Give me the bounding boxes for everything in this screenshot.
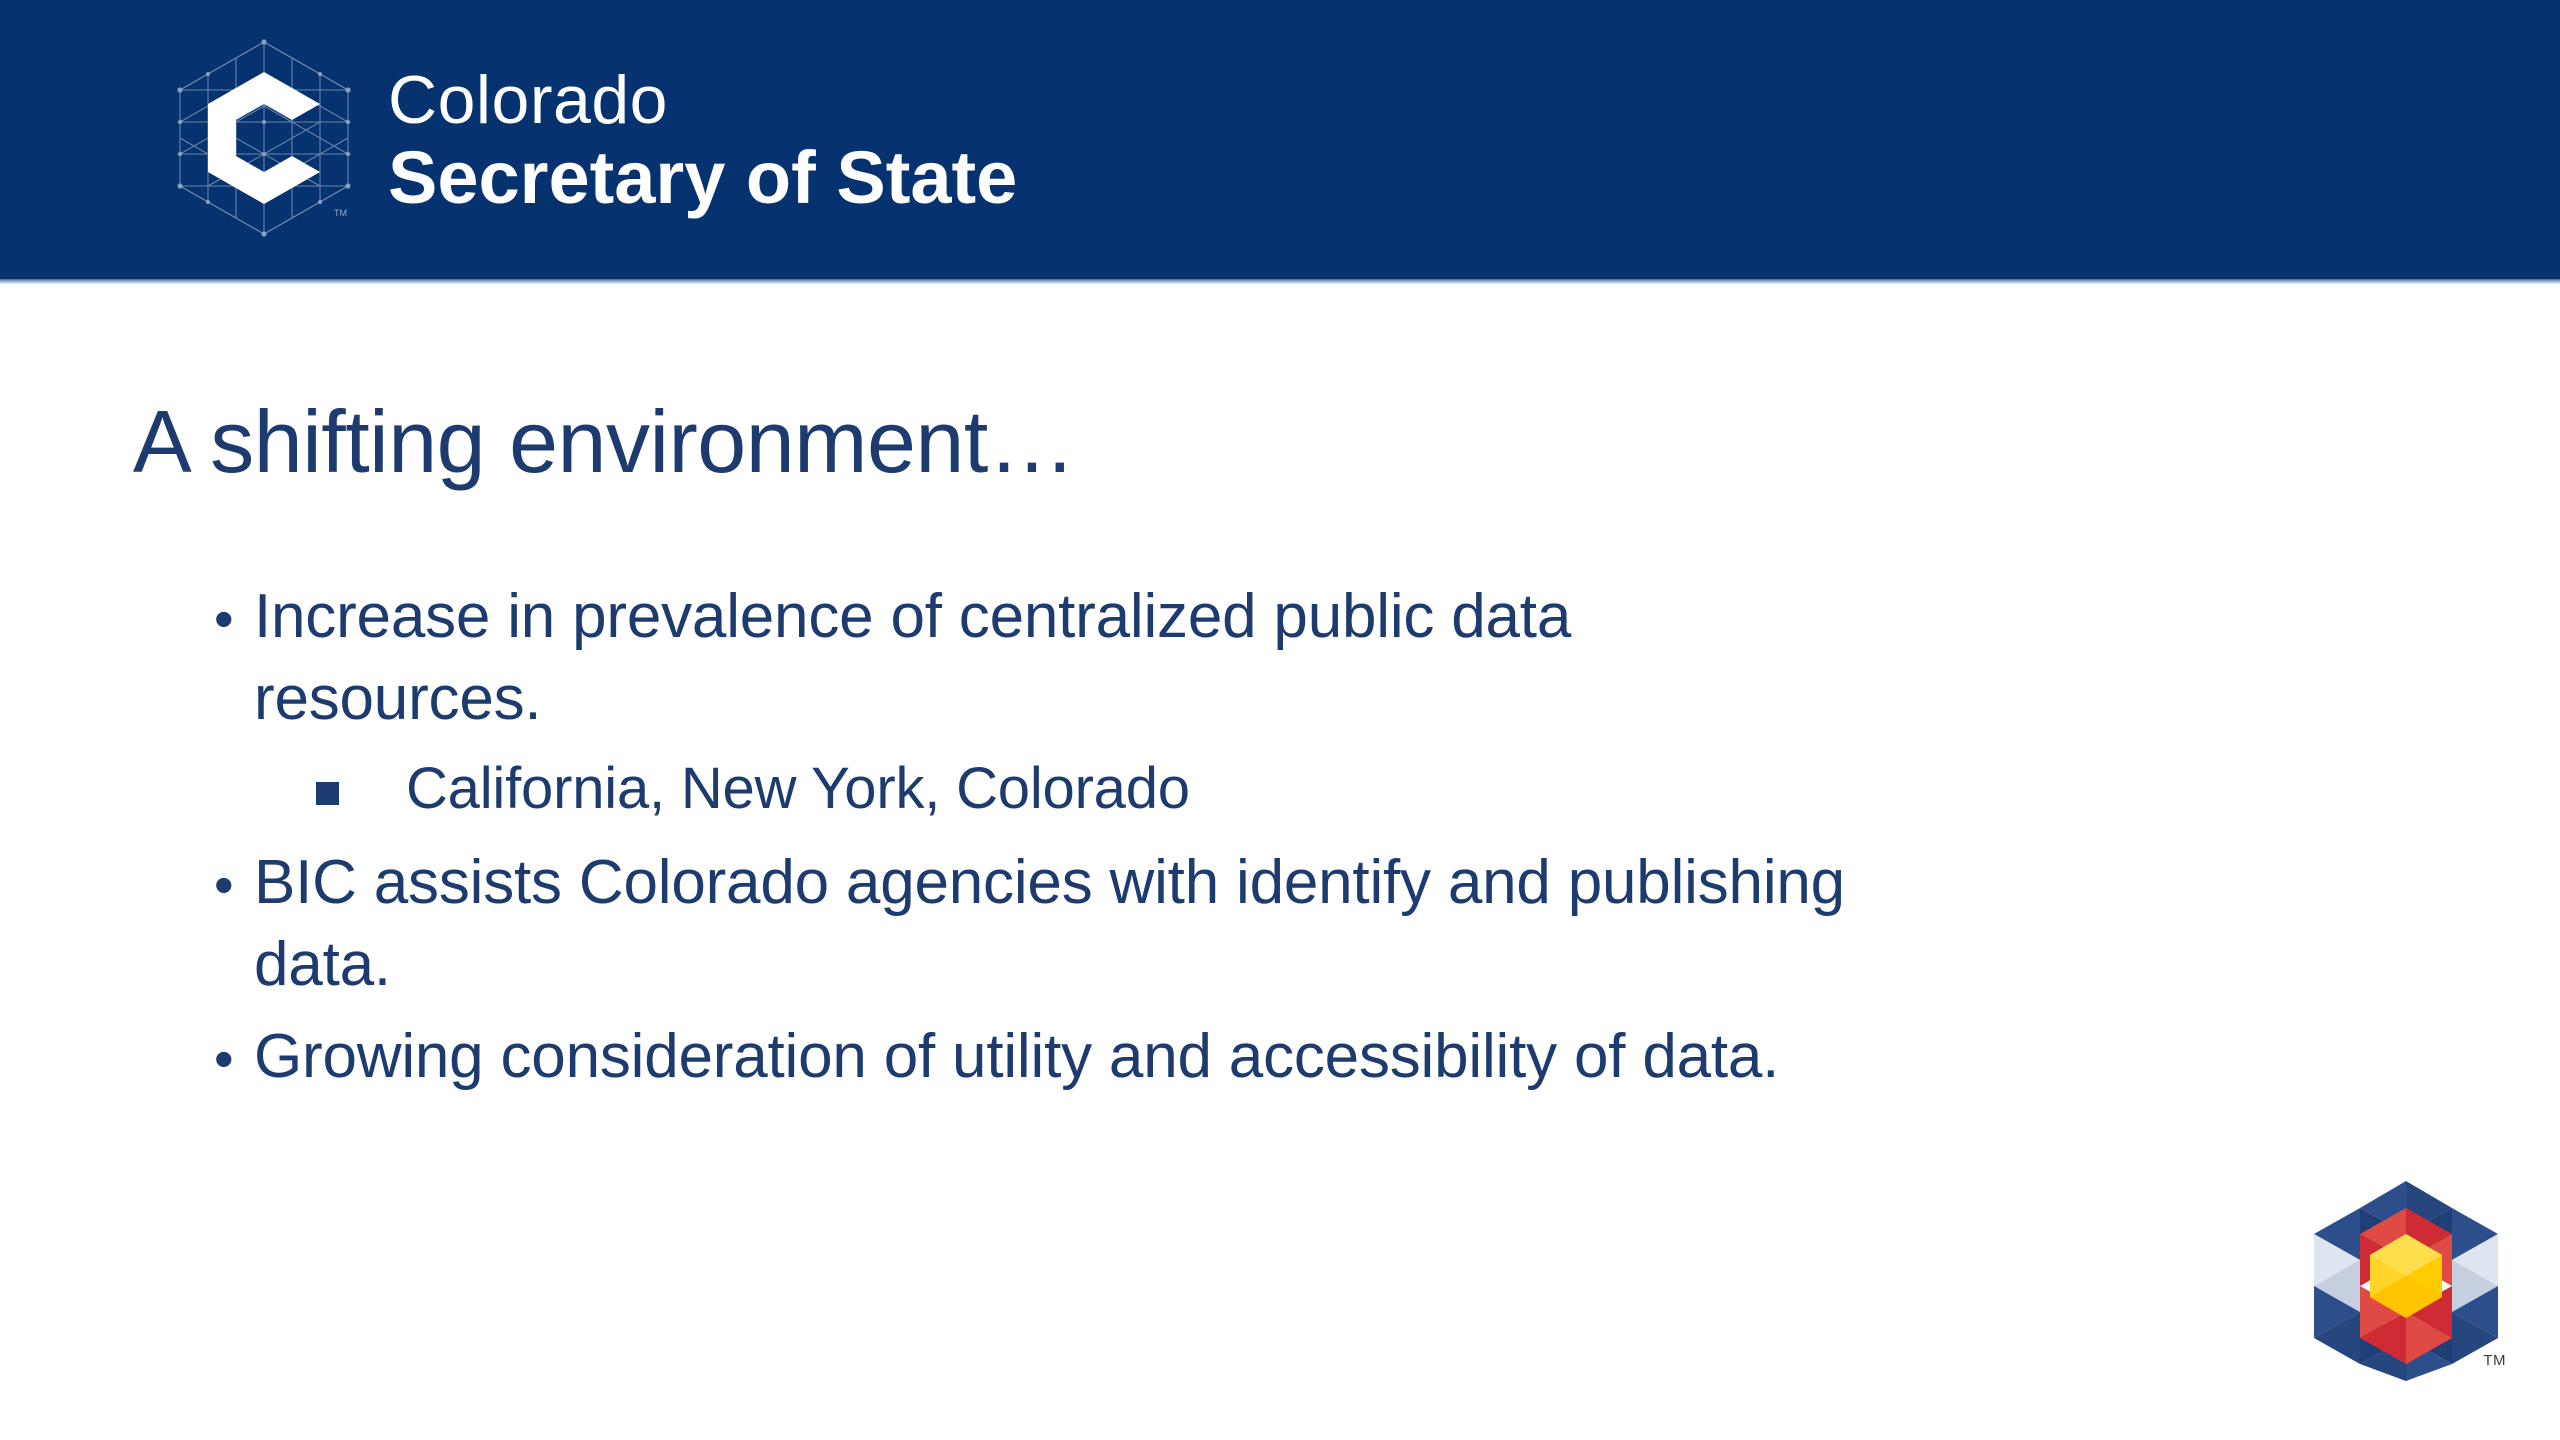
trademark-mark: TM	[2483, 1352, 2506, 1369]
bullet-disc-icon: •	[200, 576, 254, 662]
list-item-text: Growing consideration of utility and acc…	[254, 1016, 1779, 1098]
brand-line-secretary-of-state: Secretary of State	[388, 137, 1017, 219]
colorado-state-hex-logo-icon: TM	[2300, 1175, 2512, 1407]
bullet-list: • Increase in prevalence of centralized …	[200, 576, 2160, 1112]
list-item: • Increase in prevalence of centralized …	[200, 576, 2160, 740]
list-item-text: California, New York, Colorado	[406, 750, 1190, 828]
list-item: • BIC assists Colorado agencies with ide…	[200, 842, 2160, 1006]
bullet-square-icon	[316, 750, 406, 805]
list-item-text: Increase in prevalence of centralized pu…	[254, 576, 1874, 740]
list-item-text: BIC assists Colorado agencies with ident…	[254, 842, 1874, 1006]
colorado-secretary-of-state-hex-c-logo-icon: TM	[168, 38, 360, 238]
list-item: California, New York, Colorado	[316, 750, 2160, 828]
bullet-disc-icon: •	[200, 842, 254, 928]
brand-line-colorado: Colorado	[388, 63, 1017, 137]
brand-wordmark: Colorado Secretary of State	[388, 57, 1017, 219]
list-item: • Growing consideration of utility and a…	[200, 1016, 2160, 1102]
svg-text:TM: TM	[334, 208, 347, 218]
bullet-disc-icon: •	[200, 1016, 254, 1102]
slide-title: A shifting environment…	[133, 392, 1075, 492]
header-bottom-rule	[0, 279, 2560, 284]
brand-lockup: TM Colorado Secretary of State	[168, 38, 1017, 238]
